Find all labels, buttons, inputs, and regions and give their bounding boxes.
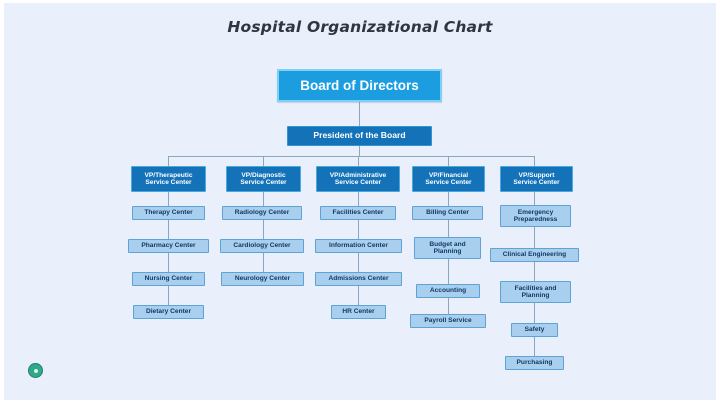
connector-bus-to-vp-3 (358, 156, 359, 166)
node-pharmacy-center[interactable]: Pharmacy Center (128, 239, 209, 253)
node-vp-financial-label: VP/Financial Service Center (425, 172, 471, 187)
status-indicator-dot (34, 369, 38, 373)
node-therapy-center[interactable]: Therapy Center (132, 206, 205, 220)
node-president-of-the-board[interactable]: President of the Board (287, 126, 432, 146)
node-vp-diagnostic-label: VP/Diagnostic Service Center (240, 172, 286, 187)
node-vp-financial[interactable]: VP/Financial Service Center (412, 166, 485, 192)
node-emergency-preparedness[interactable]: EmergencyPreparedness (500, 205, 571, 227)
connector-bus-to-vp-1 (168, 156, 169, 166)
node-vp-administrative[interactable]: VP/Administrative Service Center (316, 166, 400, 192)
node-payroll-service[interactable]: Payroll Service (410, 314, 486, 328)
connector-president-to-bus (359, 146, 360, 156)
status-indicator-icon[interactable] (28, 363, 43, 378)
node-board-of-directors[interactable]: Board of Directors (277, 69, 442, 102)
node-vp-diagnostic[interactable]: VP/Diagnostic Service Center (226, 166, 301, 192)
node-nursing-center[interactable]: Nursing Center (132, 272, 205, 286)
node-neurology-center[interactable]: Neurology Center (221, 272, 304, 286)
node-radiology-center[interactable]: Radiology Center (222, 206, 302, 220)
connector-bus-to-vp-2 (263, 156, 264, 166)
connector-bus-to-vp-5 (534, 156, 535, 166)
node-vp-administrative-label: VP/Administrative Service Center (330, 172, 386, 187)
connector-bus-to-vp-4 (448, 156, 449, 166)
node-facilities-center[interactable]: Facilities Center (320, 206, 396, 220)
node-budget-and-planning[interactable]: Budget andPlanning (414, 237, 481, 259)
node-vp-support-label: VP/Support Service Center (513, 172, 559, 187)
node-emergency-preparedness-label: EmergencyPreparedness (514, 209, 558, 224)
node-billing-center[interactable]: Billing Center (412, 206, 483, 220)
node-facilities-and-planning-label: Facilities andPlanning (515, 285, 557, 300)
connector-root-to-president (359, 102, 360, 126)
node-safety[interactable]: Safety (511, 323, 558, 337)
node-admissions-center[interactable]: Admissions Center (315, 272, 402, 286)
node-facilities-and-planning[interactable]: Facilities andPlanning (500, 281, 571, 303)
node-accounting[interactable]: Accounting (416, 284, 480, 298)
node-budget-and-planning-label: Budget andPlanning (429, 241, 465, 256)
node-vp-therapeutic-label: VP/Therapeutic Service Center (144, 172, 192, 187)
node-clinical-engineering[interactable]: Clinical Engineering (490, 248, 579, 262)
node-vp-support[interactable]: VP/Support Service Center (500, 166, 573, 192)
node-purchasing[interactable]: Purchasing (505, 356, 564, 370)
node-vp-therapeutic[interactable]: VP/Therapeutic Service Center (131, 166, 206, 192)
org-chart-canvas: Hospital Organizational Chart Board of D… (0, 0, 720, 404)
slide-frame-border (0, 0, 720, 404)
node-dietary-center[interactable]: Dietary Center (133, 305, 204, 319)
connector-vp-bus (168, 156, 534, 157)
page-title: Hospital Organizational Chart (0, 18, 720, 36)
node-cardiology-center[interactable]: Cardiology Center (220, 239, 304, 253)
node-hr-center[interactable]: HR Center (331, 305, 386, 319)
node-information-center[interactable]: Information Center (315, 239, 402, 253)
